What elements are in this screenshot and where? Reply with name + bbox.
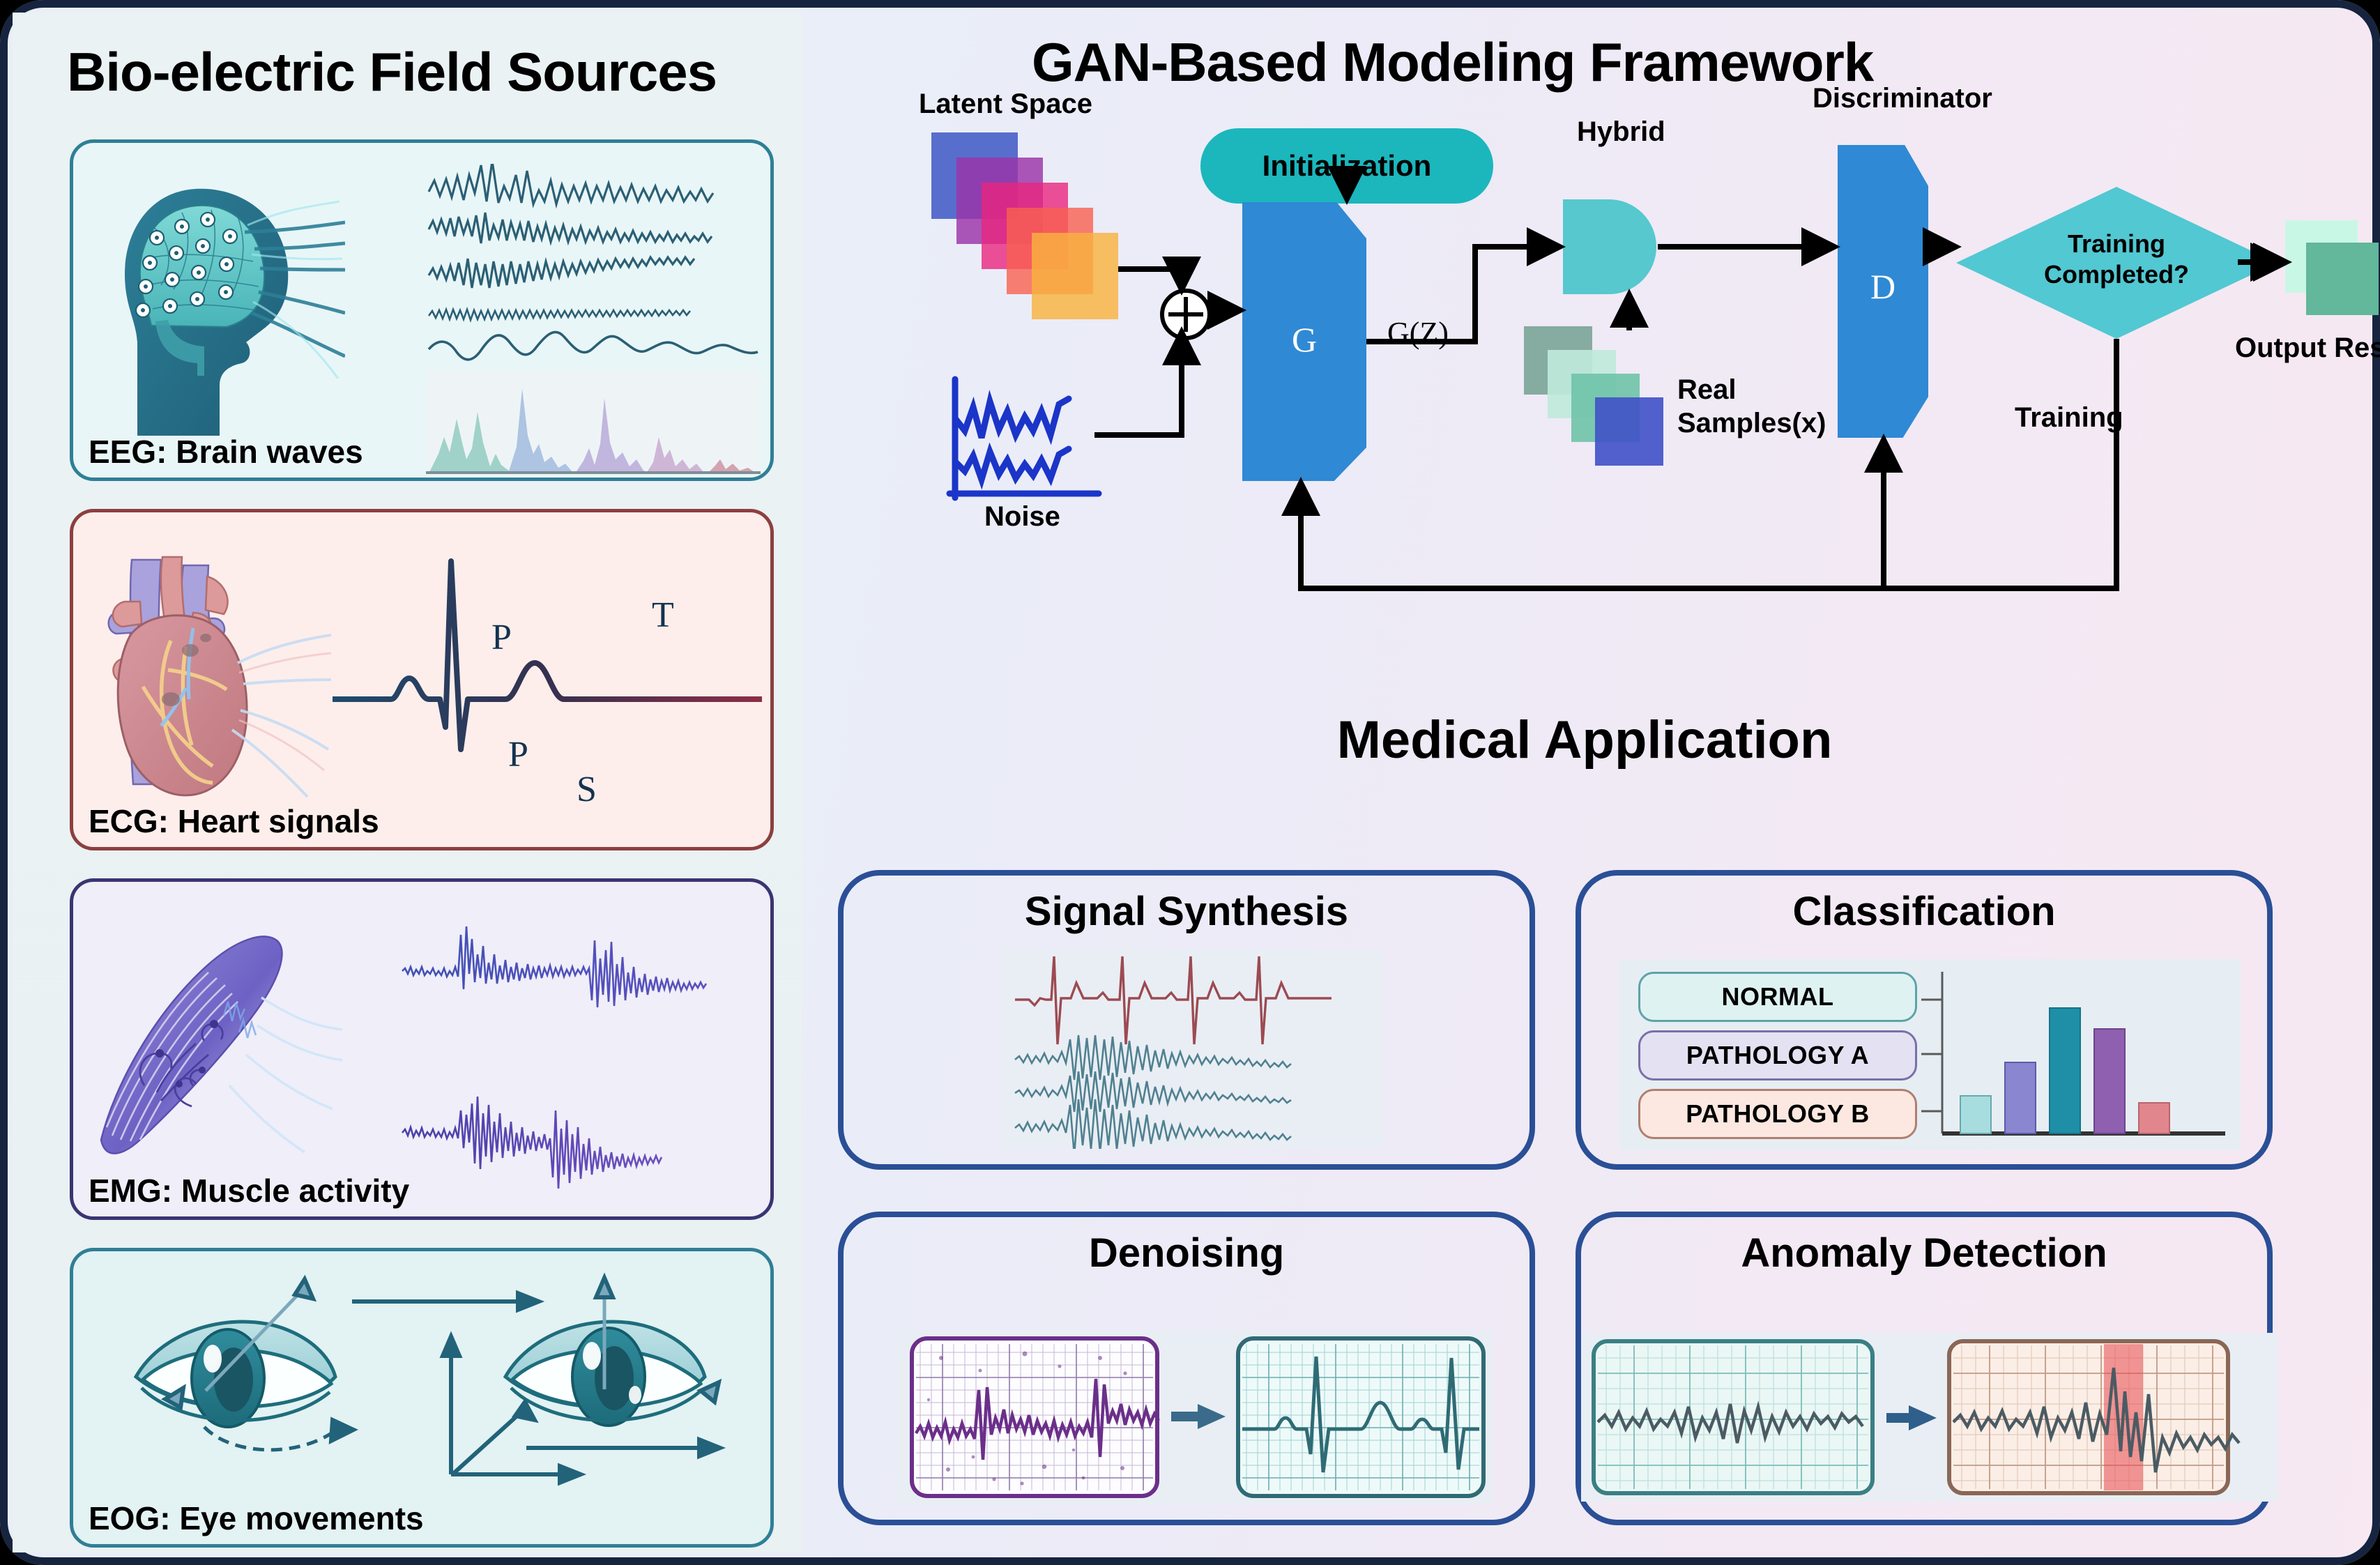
source-card-eog[interactable]: EOG: Eye movements: [70, 1248, 774, 1548]
source-card-label-emg: EMG: Muscle activity: [89, 1172, 409, 1209]
application-card-denoising[interactable]: Denoising: [838, 1212, 1535, 1525]
source-card-label-ecg: ECG: Heart signals: [89, 802, 379, 840]
framework-connectors: [802, 96, 2367, 668]
source-text-emg: Muscle activity: [172, 1173, 409, 1209]
source-card-eeg[interactable]: EEG: Brain waves: [70, 139, 774, 481]
framework-and-applications-panel: GAN-Based Modeling Framework Latent Spac…: [802, 13, 2367, 1552]
ecg-label-s: S: [577, 769, 597, 810]
application-card-signal-synthesis[interactable]: Signal Synthesis: [838, 870, 1535, 1170]
ecg-waveform: [331, 540, 763, 819]
application-title-classification: Classification: [1581, 888, 2267, 935]
source-code-ecg: ECG:: [89, 803, 169, 839]
emg-waveform-traces: [401, 903, 763, 1196]
source-code-emg: EMG:: [89, 1173, 172, 1209]
source-card-ecg[interactable]: P P S T ECG: Heart signals: [70, 509, 774, 850]
class-chip-normal-label: NORMAL: [1722, 982, 1834, 1011]
ecg-label-t: T: [652, 595, 674, 636]
source-code-eog: EOG:: [89, 1500, 171, 1536]
figure-frame: Bio-electric Field Sources: [0, 0, 2380, 1565]
heart-anatomy-icon: [101, 540, 331, 812]
ecg-label-p-upper: P: [491, 617, 512, 658]
source-text-eog: Eye movements: [171, 1500, 424, 1536]
class-chip-pathology-a-label: PATHOLOGY A: [1686, 1041, 1869, 1070]
gan-framework-diagram: Latent Space Noise Initializati: [802, 96, 2367, 668]
classification-bar-chart: [1912, 966, 2232, 1145]
source-card-label-eog: EOG: Eye movements: [89, 1499, 424, 1537]
eeg-spectrum-plot: [426, 370, 761, 475]
muscle-fiber-icon: [87, 910, 380, 1189]
application-title-anomaly-detection: Anomaly Detection: [1581, 1230, 2267, 1276]
class-chip-pathology-b[interactable]: PATHOLOGY B: [1638, 1089, 1917, 1139]
eeg-waveform-traces: [426, 164, 761, 366]
class-chip-normal[interactable]: NORMAL: [1638, 972, 1917, 1022]
signal-synthesis-traces: [844, 949, 1541, 1149]
class-chip-pathology-a[interactable]: PATHOLOGY A: [1638, 1030, 1917, 1081]
left-panel-title: Bio-electric Field Sources: [67, 40, 717, 104]
application-title-signal-synthesis: Signal Synthesis: [844, 888, 1530, 935]
application-card-anomaly-detection[interactable]: Anomaly Detection: [1576, 1212, 2273, 1525]
application-card-classification[interactable]: Classification NORMAL PATHOLOGY A PATHOL…: [1576, 870, 2273, 1170]
application-title-denoising: Denoising: [844, 1230, 1530, 1276]
medical-application-title: Medical Application: [802, 710, 2367, 770]
source-text-ecg: Heart signals: [169, 803, 379, 839]
right-panel-title: GAN-Based Modeling Framework: [1032, 31, 1873, 94]
source-code-eeg: EEG:: [89, 434, 167, 470]
brain-head-electrodes-icon: [115, 176, 345, 448]
source-card-emg[interactable]: EMG: Muscle activity: [70, 878, 774, 1220]
eye-pair-icon: [87, 1265, 774, 1516]
denoising-before-after: [844, 1330, 1541, 1504]
anomaly-detection-before-after: [1581, 1330, 2278, 1504]
bio-electric-sources-panel: Bio-electric Field Sources: [13, 13, 802, 1552]
class-chip-pathology-b-label: PATHOLOGY B: [1686, 1099, 1870, 1129]
source-text-eeg: Brain waves: [167, 434, 363, 470]
ecg-label-p-lower: P: [508, 734, 528, 775]
source-card-label-eeg: EEG: Brain waves: [89, 433, 363, 471]
classification-visual: NORMAL PATHOLOGY A PATHOLOGY B: [1619, 959, 2241, 1150]
